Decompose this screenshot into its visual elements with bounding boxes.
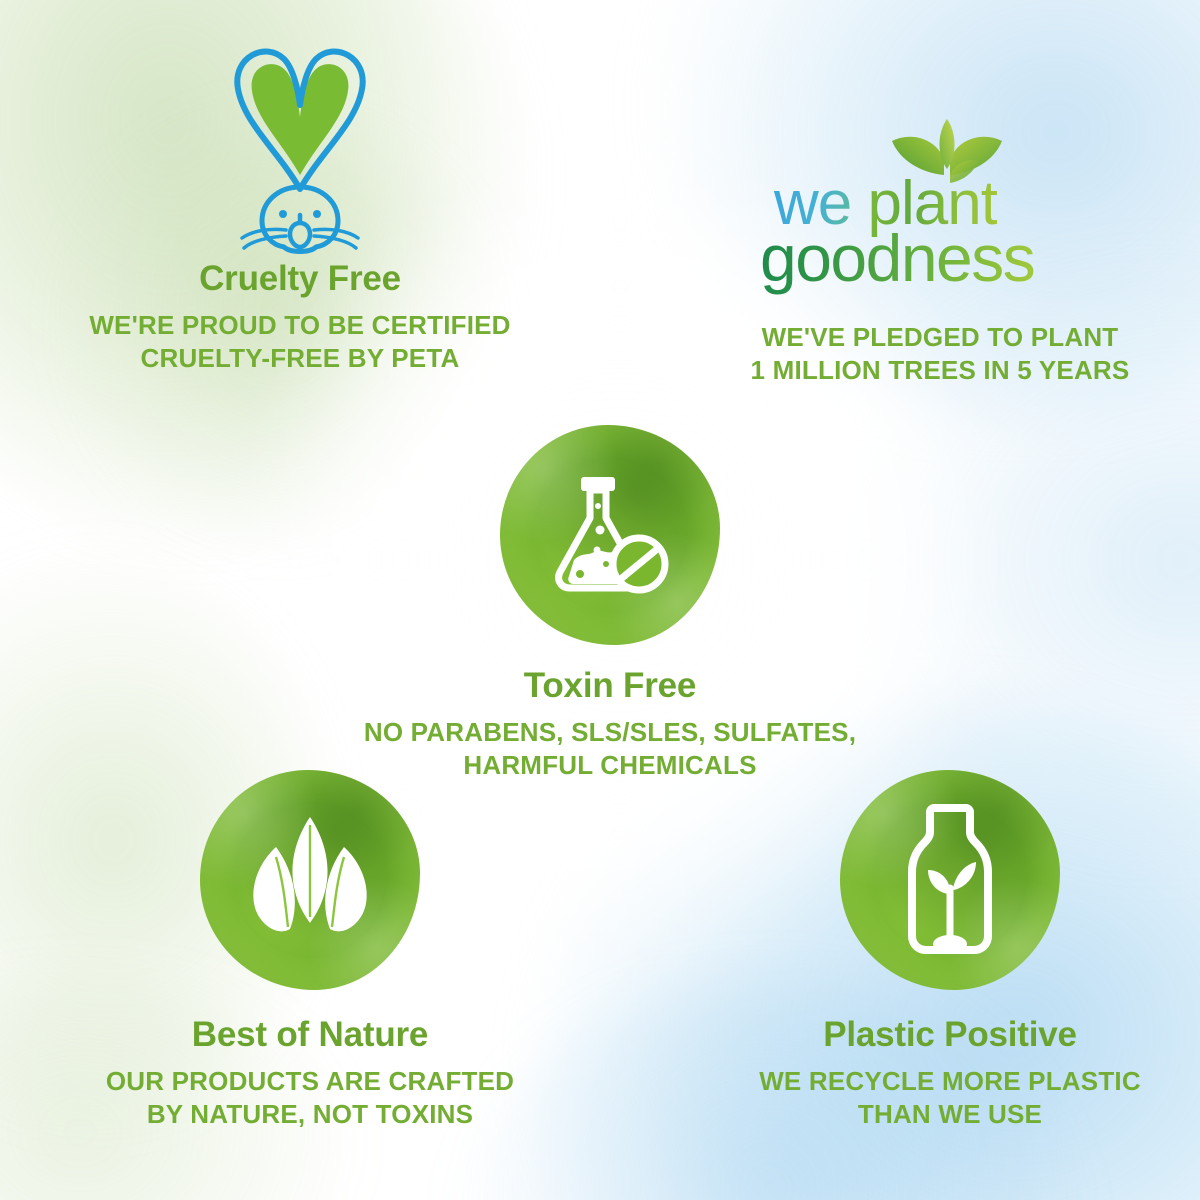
badge-toxin-free: Toxin Free No PARABENS, SLS/SLES, SULFAT… (340, 425, 880, 782)
badge-subtitle-line: WE RECYCLE MORE PLASTIC (715, 1065, 1185, 1098)
badge-title: Toxin Free (340, 667, 880, 706)
badge-title: Cruelty Free (40, 260, 560, 299)
badge-subtitle-line: 1 MILLION TREES IN 5 YEARS (715, 354, 1165, 387)
plastic-disc-wrap (715, 770, 1185, 990)
green-watercolor-disc (500, 425, 720, 645)
infographic-canvas: Cruelty Free WE'RE PROUD TO BE CERTIFIED… (0, 0, 1200, 1200)
green-watercolor-disc (200, 770, 420, 990)
toxin-disc-wrap (340, 425, 880, 645)
green-watercolor-disc (840, 770, 1060, 990)
badge-subtitle-line: WE'VE PLEDGED TO PLANT (715, 321, 1165, 354)
badge-plastic-positive: Plastic Positive WE RECYCLE MORE PLASTIC… (715, 770, 1185, 1131)
leaves-icon (246, 813, 374, 947)
badge-title: Plastic Positive (715, 1016, 1185, 1055)
bunny-heart-icon (212, 39, 388, 261)
badge-subtitle-line: No PARABENS, SLS/SLES, SULFATES, (340, 716, 880, 749)
badge-subtitle-line: WE'RE PROUD TO BE CERTIFIED (40, 309, 560, 342)
nature-disc-wrap (55, 770, 565, 990)
badge-title: Best of Nature (55, 1016, 565, 1055)
badge-subtitle-line: OUR PRODUCTS ARE CRAFTED (55, 1065, 565, 1098)
we-plant-goodness-logo: we plant goodness (760, 125, 1120, 295)
badge-subtitle: OUR PRODUCTS ARE CRAFTED BY NATURE, NOT … (55, 1065, 565, 1132)
badge-subtitle: WE'VE PLEDGED TO PLANT 1 MILLION TREES I… (715, 321, 1165, 388)
badge-best-of-nature: Best of Nature OUR PRODUCTS ARE CRAFTED … (55, 770, 565, 1131)
logo-word-goodness: goodness (760, 221, 1034, 295)
badge-subtitle-line: CRUELTY-FREE BY PETA (40, 342, 560, 375)
logo-line-two: goodness (760, 225, 1034, 291)
badge-we-plant-goodness: we plant goodness WE'VE PLEDGED TO PLANT… (715, 125, 1165, 388)
badge-subtitle: WE RECYCLE MORE PLASTIC THAN WE USE (715, 1065, 1185, 1132)
badge-subtitle-line: THAN WE USE (715, 1098, 1185, 1131)
badge-subtitle: WE'RE PROUD TO BE CERTIFIED CRUELTY-FREE… (40, 309, 560, 376)
bottle-sprout-icon (898, 802, 1002, 958)
badge-subtitle-line: BY NATURE, NOT TOXINS (55, 1098, 565, 1131)
bunny-heart-icon-wrap (40, 40, 560, 260)
flask-no-entry-icon (544, 472, 676, 598)
badge-cruelty-free: Cruelty Free WE'RE PROUD TO BE CERTIFIED… (40, 40, 560, 375)
